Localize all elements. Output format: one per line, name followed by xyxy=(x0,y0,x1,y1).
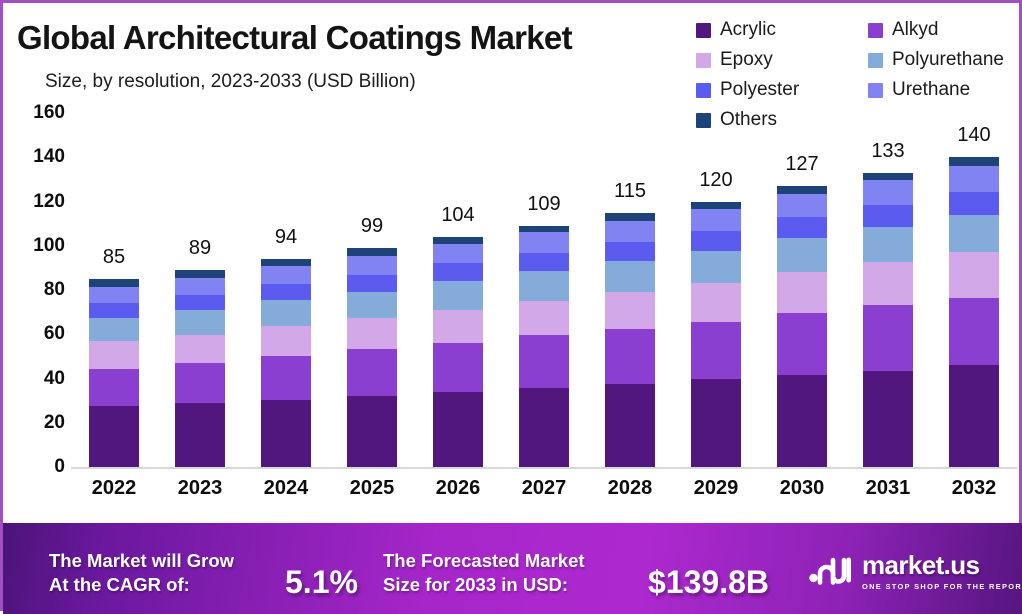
bar-group[interactable]: 85 xyxy=(71,113,157,467)
bar-segment-polyester[interactable] xyxy=(605,242,655,261)
cagr-value: 5.1% xyxy=(285,564,358,601)
y-axis-tick: 80 xyxy=(3,279,65,301)
bar-value-label: 85 xyxy=(103,246,125,269)
y-axis-tick: 160 xyxy=(3,102,65,124)
bar-segment-polyurethane[interactable] xyxy=(863,227,913,262)
stacked-bar[interactable] xyxy=(777,186,827,467)
bar-segment-polyester[interactable] xyxy=(519,253,569,271)
bar-segment-epoxy[interactable] xyxy=(519,301,569,335)
footer-banner: The Market will GrowAt the CAGR of: 5.1%… xyxy=(3,523,1022,614)
bar-segment-others[interactable] xyxy=(777,186,827,194)
y-axis-tick: 20 xyxy=(3,412,65,434)
bar-segment-epoxy[interactable] xyxy=(261,326,311,356)
bar-segment-acrylic[interactable] xyxy=(605,384,655,467)
stacked-bar[interactable] xyxy=(605,213,655,467)
bar-segment-epoxy[interactable] xyxy=(89,341,139,369)
bar-group[interactable]: 115 xyxy=(587,113,673,467)
bar-segment-acrylic[interactable] xyxy=(777,375,827,467)
cagr-label: The Market will GrowAt the CAGR of: xyxy=(49,549,234,596)
bar-segment-alkyd[interactable] xyxy=(261,356,311,400)
bar-segment-polyurethane[interactable] xyxy=(605,261,655,292)
bar-segment-epoxy[interactable] xyxy=(605,292,655,329)
legend-swatch-icon xyxy=(868,23,883,38)
legend-item-polyester[interactable]: Polyester xyxy=(696,79,868,101)
y-axis-tick: 140 xyxy=(3,146,65,168)
bar-segment-epoxy[interactable] xyxy=(347,318,397,349)
bar-group[interactable]: 109 xyxy=(501,113,587,467)
brand-tagline: ONE STOP SHOP FOR THE REPORTS xyxy=(862,582,1022,591)
bar-segment-polyurethane[interactable] xyxy=(433,281,483,310)
bar-segment-polyester[interactable] xyxy=(691,231,741,251)
bar-segment-polyurethane[interactable] xyxy=(519,271,569,301)
bar-group[interactable]: 89 xyxy=(157,113,243,467)
bar-segment-others[interactable] xyxy=(347,248,397,256)
bar-segment-epoxy[interactable] xyxy=(949,252,999,297)
bar-segment-others[interactable] xyxy=(261,259,311,266)
bar-group[interactable]: 140 xyxy=(931,113,1017,467)
bar-segment-polyurethane[interactable] xyxy=(261,300,311,325)
forecast-size-label: The Forecasted MarketSize for 2033 in US… xyxy=(383,549,585,596)
legend-item-urethane[interactable]: Urethane xyxy=(868,79,1021,101)
bar-segment-urethane[interactable] xyxy=(519,232,569,252)
bar-segment-polyester[interactable] xyxy=(89,303,139,317)
bar-value-label: 99 xyxy=(361,215,383,238)
bar-segment-urethane[interactable] xyxy=(347,256,397,275)
legend-swatch-icon xyxy=(868,53,883,68)
bar-segment-urethane[interactable] xyxy=(949,166,999,191)
bar-value-label: 89 xyxy=(189,237,211,260)
bar-segment-alkyd[interactable] xyxy=(949,298,999,365)
bar-segment-acrylic[interactable] xyxy=(175,403,225,467)
legend-item-alkyd[interactable]: Alkyd xyxy=(868,19,1021,41)
x-axis-tick: 2025 xyxy=(329,477,415,500)
bar-segment-alkyd[interactable] xyxy=(519,335,569,388)
bar-segment-polyurethane[interactable] xyxy=(691,251,741,283)
bar-segment-acrylic[interactable] xyxy=(347,396,397,467)
bar-segment-others[interactable] xyxy=(691,202,741,209)
bar-segment-polyurethane[interactable] xyxy=(175,310,225,334)
bar-segment-urethane[interactable] xyxy=(863,180,913,204)
y-axis-tick: 0 xyxy=(3,456,65,478)
bar-segment-urethane[interactable] xyxy=(261,266,311,284)
legend-label: Polyurethane xyxy=(892,49,1004,71)
x-axis-tick: 2023 xyxy=(157,477,243,500)
y-axis-tick: 120 xyxy=(3,191,65,213)
bar-segment-others[interactable] xyxy=(175,270,225,278)
legend-swatch-icon xyxy=(868,83,883,98)
x-axis-tick: 2029 xyxy=(673,477,759,500)
stacked-bar[interactable] xyxy=(261,259,311,467)
bar-group[interactable]: 133 xyxy=(845,113,931,467)
bar-segment-acrylic[interactable] xyxy=(261,400,311,467)
bar-segment-others[interactable] xyxy=(433,237,483,244)
bar-segment-others[interactable] xyxy=(89,279,139,287)
legend-label: Urethane xyxy=(892,79,970,101)
bar-segment-epoxy[interactable] xyxy=(175,335,225,364)
bar-segment-others[interactable] xyxy=(863,173,913,181)
bar-segment-alkyd[interactable] xyxy=(433,343,483,392)
bar-segment-epoxy[interactable] xyxy=(777,272,827,313)
legend-label: Acrylic xyxy=(720,19,776,41)
bar-segment-polyester[interactable] xyxy=(863,205,913,227)
legend-swatch-icon xyxy=(696,83,711,98)
chart-infographic: Global Architectural Coatings Market Siz… xyxy=(0,0,1022,611)
y-axis-tick: 40 xyxy=(3,368,65,390)
legend-swatch-icon xyxy=(696,53,711,68)
bar-segment-urethane[interactable] xyxy=(175,278,225,295)
bar-value-label: 140 xyxy=(957,124,990,147)
bar-segment-urethane[interactable] xyxy=(777,194,827,217)
stacked-bar[interactable] xyxy=(347,248,397,467)
bar-group[interactable]: 120 xyxy=(673,113,759,467)
y-axis-tick: 100 xyxy=(3,235,65,257)
bar-segment-polyester[interactable] xyxy=(949,192,999,215)
x-axis-tick: 2030 xyxy=(759,477,845,500)
brand-logo[interactable]: market.us ONE STOP SHOP FOR THE REPORTS xyxy=(809,552,1022,591)
bar-segment-urethane[interactable] xyxy=(89,287,139,304)
legend-swatch-icon xyxy=(696,23,711,38)
x-axis-baseline xyxy=(71,467,1017,469)
bar-segment-alkyd[interactable] xyxy=(605,329,655,384)
x-axis-tick: 2026 xyxy=(415,477,501,500)
bar-segment-polyester[interactable] xyxy=(175,295,225,310)
bar-value-label: 120 xyxy=(699,169,732,192)
x-axis-tick: 2022 xyxy=(71,477,157,500)
bar-value-label: 109 xyxy=(527,193,560,216)
market-us-logo-icon xyxy=(809,552,853,591)
chart-plot-area: 020406080100120140160 858994991041091151… xyxy=(3,113,1022,523)
bar-segment-urethane[interactable] xyxy=(433,244,483,263)
bar-segment-acrylic[interactable] xyxy=(949,365,999,467)
bar-value-label: 94 xyxy=(275,226,297,249)
bar-value-label: 115 xyxy=(614,180,646,203)
bar-segment-epoxy[interactable] xyxy=(691,283,741,322)
bar-value-label: 133 xyxy=(871,140,904,163)
page-subtitle: Size, by resolution, 2023-2033 (USD Bill… xyxy=(45,71,416,93)
bar-segment-polyester[interactable] xyxy=(433,263,483,281)
stacked-bar[interactable] xyxy=(175,270,225,467)
bar-value-label: 127 xyxy=(785,153,818,176)
bar-segment-alkyd[interactable] xyxy=(89,369,139,407)
bar-group[interactable]: 104 xyxy=(415,113,501,467)
bar-segment-epoxy[interactable] xyxy=(433,310,483,343)
stacked-bar[interactable] xyxy=(949,157,999,467)
stacked-bar[interactable] xyxy=(433,237,483,467)
x-axis-tick: 2031 xyxy=(845,477,931,500)
bar-segment-polyester[interactable] xyxy=(347,275,397,292)
bar-group[interactable]: 94 xyxy=(243,113,329,467)
bar-value-label: 104 xyxy=(441,204,474,227)
bar-segment-acrylic[interactable] xyxy=(433,392,483,467)
bar-segment-others[interactable] xyxy=(949,157,999,166)
forecast-size-value: $139.8B xyxy=(648,564,769,601)
bar-segment-acrylic[interactable] xyxy=(863,371,913,467)
stacked-bar[interactable] xyxy=(89,279,139,467)
bar-segment-polyester[interactable] xyxy=(777,217,827,238)
bar-segment-acrylic[interactable] xyxy=(89,406,139,467)
x-axis-tick: 2027 xyxy=(501,477,587,500)
legend-item-epoxy[interactable]: Epoxy xyxy=(696,49,868,71)
bar-segment-alkyd[interactable] xyxy=(175,363,225,403)
bar-segment-others[interactable] xyxy=(605,213,655,221)
legend-item-polyurethane[interactable]: Polyurethane xyxy=(868,49,1021,71)
bar-segment-polyurethane[interactable] xyxy=(777,238,827,272)
x-axis-tick: 2028 xyxy=(587,477,673,500)
bar-group[interactable]: 99 xyxy=(329,113,415,467)
x-axis-tick: 2032 xyxy=(931,477,1017,500)
bar-segment-polyurethane[interactable] xyxy=(347,292,397,319)
bar-segment-alkyd[interactable] xyxy=(863,305,913,370)
bar-segment-alkyd[interactable] xyxy=(691,322,741,380)
legend-label: Polyester xyxy=(720,79,799,101)
stacked-bar[interactable] xyxy=(863,173,913,467)
bar-segment-polyester[interactable] xyxy=(261,284,311,300)
bar-segment-alkyd[interactable] xyxy=(777,313,827,375)
bar-segment-acrylic[interactable] xyxy=(519,388,569,467)
bar-segment-acrylic[interactable] xyxy=(691,379,741,467)
bar-segment-urethane[interactable] xyxy=(691,209,741,231)
brand-name: market.us xyxy=(862,552,1022,578)
y-axis-tick: 60 xyxy=(3,323,65,345)
bar-series-container: 85899499104109115120127133140 xyxy=(71,113,1017,467)
bar-segment-polyurethane[interactable] xyxy=(949,215,999,253)
page-title: Global Architectural Coatings Market xyxy=(17,19,572,57)
bar-segment-epoxy[interactable] xyxy=(863,262,913,305)
bar-group[interactable]: 127 xyxy=(759,113,845,467)
legend-item-acrylic[interactable]: Acrylic xyxy=(696,19,868,41)
stacked-bar[interactable] xyxy=(691,202,741,467)
bar-segment-urethane[interactable] xyxy=(605,221,655,242)
brand-text: market.us ONE STOP SHOP FOR THE REPORTS xyxy=(862,552,1022,591)
bar-segment-alkyd[interactable] xyxy=(347,349,397,395)
stacked-bar[interactable] xyxy=(519,226,569,467)
legend-label: Alkyd xyxy=(892,19,938,41)
bar-segment-polyurethane[interactable] xyxy=(89,318,139,341)
x-axis-tick: 2024 xyxy=(243,477,329,500)
legend-label: Epoxy xyxy=(720,49,773,71)
